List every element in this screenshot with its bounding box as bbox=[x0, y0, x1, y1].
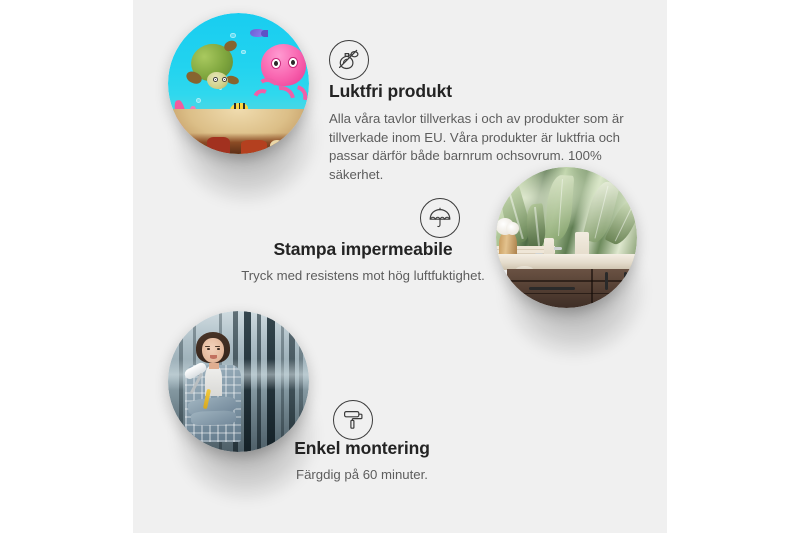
feature-image-odourless bbox=[168, 13, 309, 154]
no-fragrance-icon bbox=[329, 40, 369, 80]
turtle-eye-icon bbox=[222, 77, 227, 82]
feature-image-waterproof bbox=[496, 167, 637, 308]
feature-text-easy-mounting: Enkel montering Färgdig på 60 minuter. bbox=[197, 438, 527, 485]
foreground-rocks-icon bbox=[168, 133, 309, 154]
woman-mouth bbox=[210, 355, 218, 358]
feature-text-waterproof: Stampa impermeabile Tryck med resistens … bbox=[133, 239, 593, 286]
woman-eyebrow bbox=[205, 346, 210, 347]
feature-image-easy-mounting bbox=[168, 311, 309, 452]
feature-body: Färgdig på 60 minuter. bbox=[197, 466, 527, 485]
umbrella-icon bbox=[420, 198, 460, 238]
bubble-icon bbox=[196, 98, 201, 103]
feature-title: Stampa impermeabile bbox=[133, 239, 593, 261]
bubble-icon bbox=[230, 33, 236, 39]
content-panel: Luktfri produkt Alla våra tavlor tillver… bbox=[133, 0, 667, 533]
feature-body: Tryck med resistens mot hög luftfuktighe… bbox=[133, 267, 593, 286]
octopus-eye-icon bbox=[288, 57, 298, 68]
octopus-eye-icon bbox=[271, 58, 281, 69]
feature-title: Luktfri produkt bbox=[329, 81, 629, 103]
feature-title: Enkel montering bbox=[197, 438, 527, 460]
bubble-icon bbox=[241, 50, 245, 54]
paint-roller-icon bbox=[333, 400, 373, 440]
shell-icon bbox=[270, 140, 284, 151]
woman-eyebrow bbox=[215, 346, 220, 347]
product-feature-banner: Luktfri produkt Alla våra tavlor tillver… bbox=[0, 0, 800, 533]
fish-tail-icon bbox=[261, 30, 268, 37]
woman-arm bbox=[190, 410, 236, 426]
rock-icon bbox=[241, 140, 266, 154]
flower-icon bbox=[506, 222, 519, 235]
turtle-eye-icon bbox=[213, 77, 218, 82]
rock-icon bbox=[207, 137, 230, 154]
